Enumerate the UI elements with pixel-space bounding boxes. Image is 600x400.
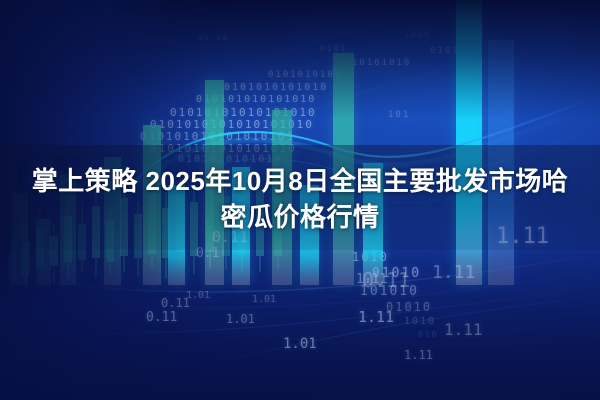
bottom-vignette [0, 250, 600, 400]
banner-image: 01 1001011010101001010101010101010101010… [0, 0, 600, 400]
title-line-2: 密瓜价格行情 [14, 199, 586, 235]
title-block: 掌上策略 2025年10月8日全国主要批发市场哈 密瓜价格行情 [0, 163, 600, 235]
title-line-1: 掌上策略 2025年10月8日全国主要批发市场哈 [14, 163, 586, 199]
